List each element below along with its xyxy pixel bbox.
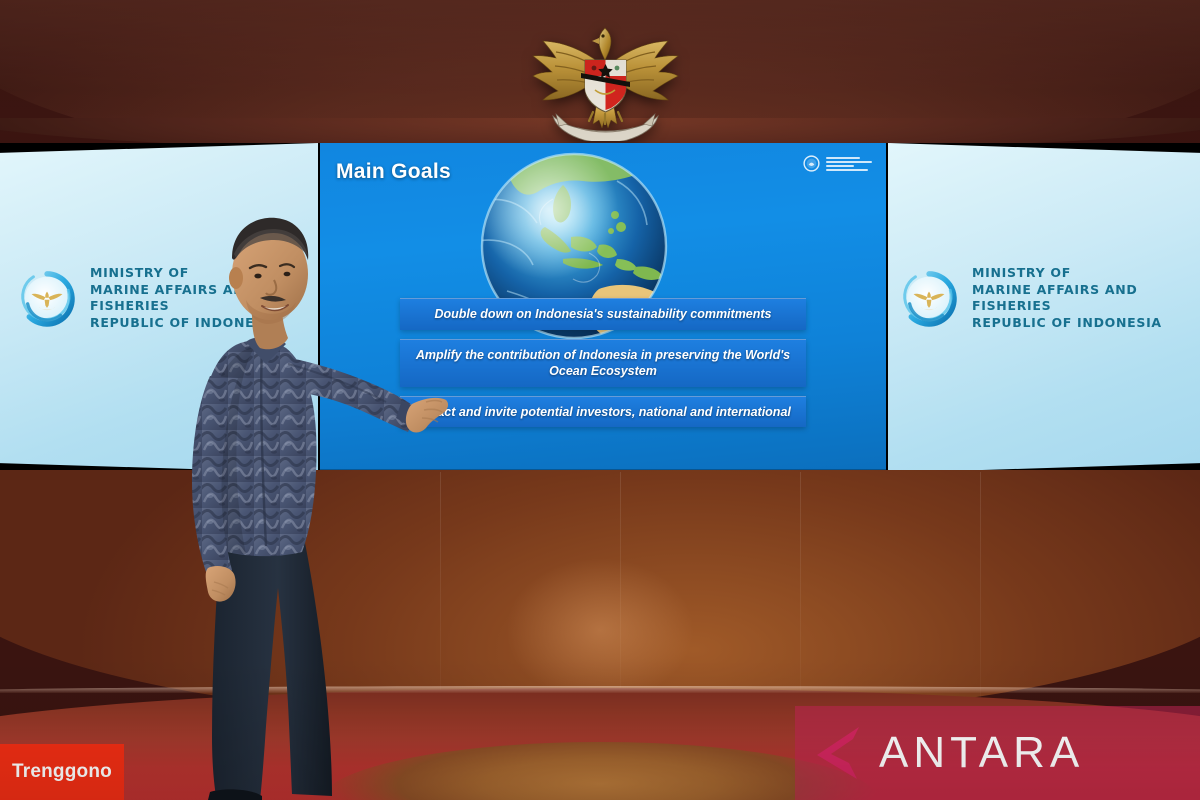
caption-badge: Trenggono — [0, 744, 124, 800]
goals-list: Double down on Indonesia's sustainabilit… — [400, 298, 806, 436]
antara-watermark: ANTARA — [795, 706, 1200, 800]
speaker-figure — [150, 196, 450, 800]
goal-item-3[interactable]: Attract and invite potential investors, … — [400, 396, 806, 428]
slide-corner-logo — [803, 155, 872, 172]
kkp-logo-small-icon — [803, 155, 820, 172]
antara-arrow-icon — [813, 723, 865, 783]
wall-seam — [620, 472, 621, 708]
caption-text: Trenggono — [12, 761, 112, 783]
ministry-line-4: Republic of Indonesia — [972, 315, 1162, 332]
wall-seam — [800, 472, 801, 708]
ministry-line-2: Marine Affairs and — [972, 282, 1162, 299]
kkp-logo-icon — [18, 269, 76, 327]
right-screen-panel[interactable]: Ministry of Marine Affairs and Fisheries… — [888, 143, 1200, 473]
photo-stage: Ministry of Marine Affairs and Fisheries… — [0, 0, 1200, 800]
antara-wordmark: ANTARA — [879, 728, 1084, 778]
wall-seam — [980, 472, 981, 708]
garuda-pancasila-emblem — [523, 16, 688, 141]
slide-title: Main Goals — [336, 160, 451, 184]
ministry-name-right: Ministry of Marine Affairs and Fisheries… — [972, 265, 1162, 331]
ministry-line-1: Ministry of — [972, 265, 1162, 282]
ministry-lockup-right: Ministry of Marine Affairs and Fisheries… — [900, 265, 1162, 331]
ministry-line-3: Fisheries — [972, 298, 1162, 315]
kkp-logo-icon — [900, 269, 958, 327]
goal-item-1[interactable]: Double down on Indonesia's sustainabilit… — [400, 298, 806, 330]
goal-item-2[interactable]: Amplify the contribution of Indonesia in… — [400, 339, 806, 387]
slide-logo-textlines — [826, 157, 872, 171]
